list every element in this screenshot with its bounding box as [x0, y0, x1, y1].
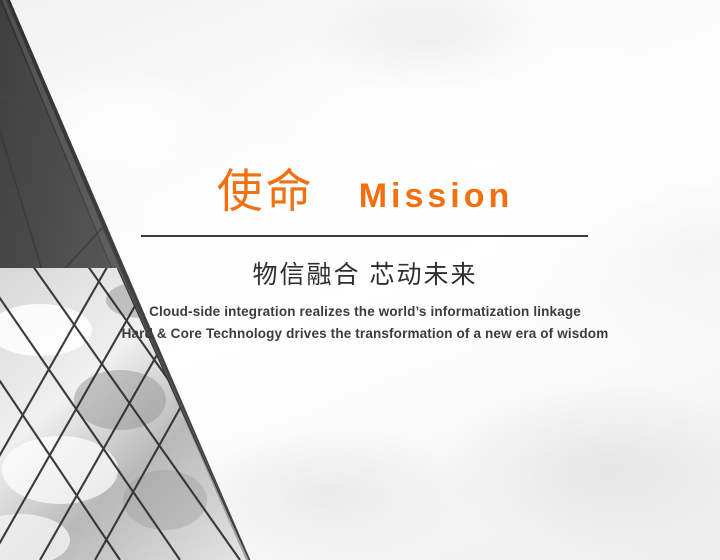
heading-divider: [141, 235, 588, 237]
heading-row: 使命 Mission: [141, 168, 589, 214]
heading-title-cn: 使命: [217, 168, 315, 214]
heading-title-en: Mission: [359, 179, 514, 213]
subtitle-cn: 物信融合 芯动未来: [141, 258, 589, 292]
mission-banner: 使命 Mission 物信融合 芯动未来 Cloud-side integrat…: [0, 0, 720, 560]
body-text: Cloud-side integration realizes the worl…: [60, 301, 670, 345]
banner-content: 使命 Mission 物信融合 芯动未来 Cloud-side integrat…: [0, 0, 720, 560]
body-line-2: Hard & Core Technology drives the transf…: [60, 323, 670, 345]
body-line-1: Cloud-side integration realizes the worl…: [60, 301, 670, 323]
